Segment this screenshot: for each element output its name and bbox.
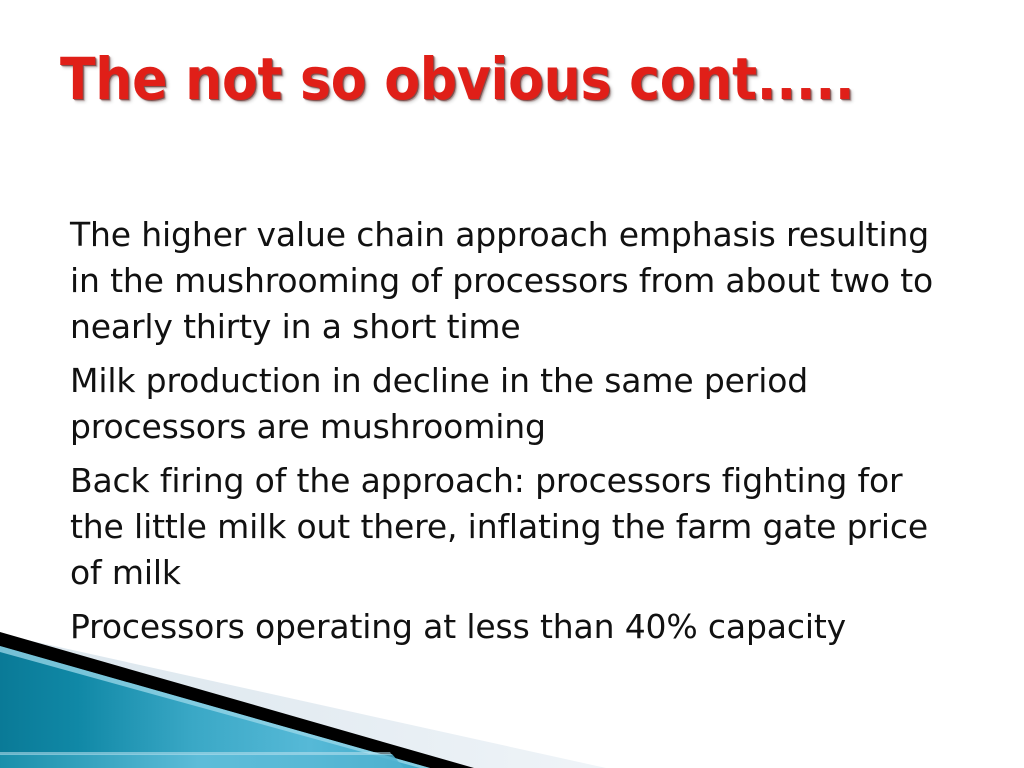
pale-band-shape (0, 634, 606, 768)
slide-canvas: The not so obvious cont..... The higher … (0, 0, 1024, 768)
bullet-paragraph-3: Back firing of the approach: processors … (70, 458, 950, 596)
page-title: The not so obvious cont..... (60, 48, 964, 111)
black-stripe-shape (0, 632, 474, 768)
teal-bottom-band (0, 754, 404, 768)
teal-triangle-shape (0, 646, 430, 768)
teal-separator-line (0, 752, 392, 755)
bullet-paragraph-2: Milk production in decline in the same p… (70, 358, 950, 450)
bullet-paragraph-4: Processors operating at less than 40% ca… (70, 604, 950, 650)
bullet-paragraph-1: The higher value chain approach emphasis… (70, 212, 950, 350)
teal-highlight-edge (0, 646, 430, 768)
slide-body-content: The higher value chain approach emphasis… (70, 212, 970, 650)
